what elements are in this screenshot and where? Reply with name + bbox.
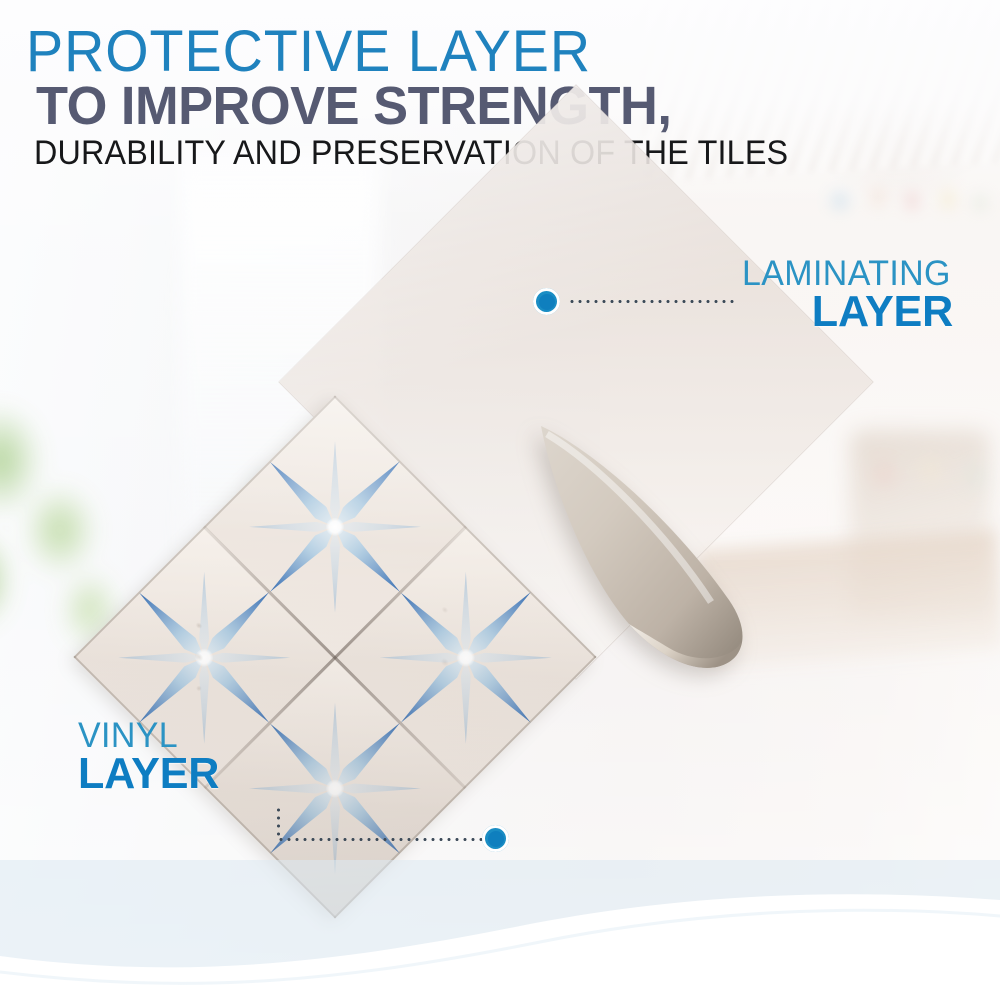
laminating-layer-callout (533, 288, 560, 315)
vinyl-layer-marker[interactable] (482, 825, 509, 852)
laminating-layer-label-bold: LAYER (742, 289, 953, 335)
laminating-leader-line (568, 300, 738, 303)
vinyl-layer-label: VINYL LAYER (78, 718, 222, 797)
vinyl-layer-callout (482, 825, 509, 852)
vinyl-layer-label-bold: LAYER (78, 751, 219, 797)
vinyl-leader-line-vertical (277, 806, 280, 840)
vinyl-leader-line-horizontal (277, 838, 483, 841)
peeling-corner (533, 424, 765, 682)
laminating-layer-marker[interactable] (533, 288, 560, 315)
infographic-canvas: PROTECTIVE LAYER TO IMPROVE STRENGTH, DU… (0, 0, 1000, 1000)
bottom-wave-divider (0, 860, 1000, 1000)
laminating-layer-label: LAMINATING LAYER (742, 256, 957, 335)
